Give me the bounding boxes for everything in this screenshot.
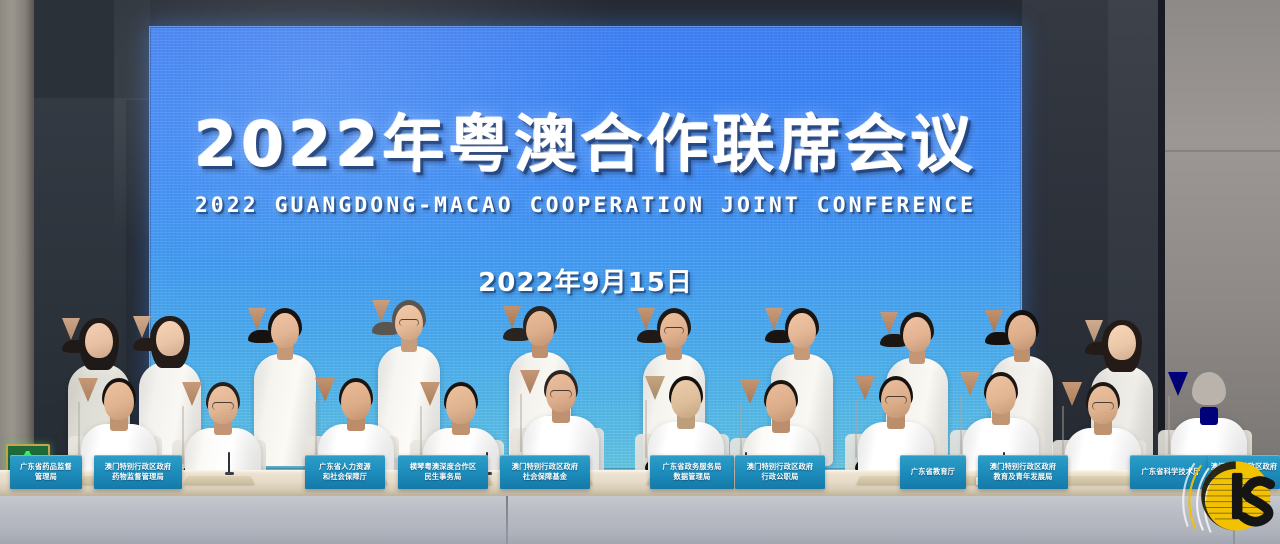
name-placard: 澳门特别行政区政府药物监督管理局	[94, 455, 182, 489]
shirt-collar	[1062, 382, 1082, 406]
shirt-placket	[740, 404, 742, 462]
shirt-placket	[78, 402, 80, 460]
shirt-collar	[740, 380, 760, 404]
shirt-placket	[645, 400, 647, 458]
shirt-collar	[765, 308, 783, 330]
shirt-collar	[315, 378, 335, 402]
delegate-glasses	[212, 402, 234, 410]
placard-line: 澳门特别行政区政府	[747, 462, 814, 472]
delegate-head	[1008, 315, 1036, 350]
placard-line: 广东省政务服务局	[662, 462, 721, 472]
placard-line: 药物监督管理局	[112, 472, 164, 482]
delegate-head	[446, 386, 476, 424]
placard-line: 广东省人力资源	[319, 462, 371, 472]
delegate-head	[903, 317, 931, 352]
name-placard: 广东省教育厅	[900, 455, 966, 489]
placard-line: 民生事务局	[425, 472, 462, 482]
delegate-head	[766, 384, 796, 422]
conference-date: 2022年9月15日	[149, 262, 1022, 299]
shirt-placket	[315, 402, 317, 460]
delegate-head	[526, 311, 554, 346]
delegate-glasses	[1092, 402, 1114, 410]
placard-line: 社会保障基金	[523, 472, 567, 482]
delegate-head	[1194, 376, 1224, 414]
microphone-base	[225, 472, 234, 475]
delegate-head	[271, 313, 299, 348]
delegate-head	[341, 382, 371, 420]
delegate-glasses	[399, 319, 419, 326]
shirt-collar	[855, 376, 875, 400]
gcs-logo	[1182, 446, 1278, 542]
name-placard: 澳门特别行政区政府行政公职局	[735, 455, 825, 489]
shirt-collar	[1168, 372, 1188, 396]
delegate-head	[671, 380, 701, 418]
placard-line: 和社会保障厅	[323, 472, 367, 482]
name-placard: 横琴粤澳深度合作区民生事务局	[398, 455, 488, 489]
conference-table-front-panel	[0, 496, 1280, 544]
shirt-collar	[420, 382, 440, 406]
table-panel-seam	[506, 496, 508, 544]
placard-line: 广东省教育厅	[911, 467, 955, 477]
name-placard: 澳门特别行政区政府社会保障基金	[500, 455, 590, 489]
placard-line: 澳门特别行政区政府	[105, 462, 172, 472]
name-placard: 广东省政务服务局数据管理局	[650, 455, 734, 489]
wall-panel-upper-left	[34, 0, 150, 98]
delegate-head	[85, 323, 113, 358]
delegate-glasses	[664, 327, 684, 334]
name-placard: 澳门特别行政区政府教育及青年发展局	[978, 455, 1068, 489]
shirt-collar	[182, 382, 202, 406]
wall-panel-right-warm-seam	[1165, 150, 1280, 152]
wall-panel-top-center	[150, 0, 1030, 26]
shirt-collar	[1085, 320, 1103, 342]
shirt-collar	[503, 306, 521, 328]
screen-title-block: 2022年粤澳合作联席会议 2022 GUANGDONG-MACAO COOPE…	[149, 110, 1022, 218]
shirt-placket	[520, 394, 522, 452]
shirt-collar	[880, 312, 898, 334]
wall-pillar-left	[0, 0, 34, 470]
placard-line: 管理局	[35, 472, 57, 482]
wall-seam-right	[1158, 0, 1165, 470]
microphone-stem	[228, 452, 230, 474]
placard-line: 行政公职局	[762, 472, 799, 482]
name-placard: 广东省药品监督管理局	[10, 455, 82, 489]
delegate-head	[788, 313, 816, 348]
shirt-collar	[78, 378, 98, 402]
conference-table-edge-highlight	[0, 470, 1280, 473]
shirt-placket	[182, 406, 184, 464]
conference-title-english: 2022 GUANGDONG-MACAO COOPERATION JOINT C…	[149, 193, 1022, 218]
shirt-collar	[520, 370, 540, 394]
shirt-placket	[960, 396, 962, 454]
conference-title-chinese: 2022年粤澳合作联席会议	[149, 110, 1022, 179]
placard-line: 广东省药品监督	[20, 462, 72, 472]
shirt-collar	[133, 316, 151, 338]
shirt-placket	[1168, 396, 1170, 454]
placard-line: 澳门特别行政区政府	[990, 462, 1057, 472]
placard-line: 数据管理局	[674, 472, 711, 482]
shirt-placket	[855, 400, 857, 458]
name-placard: 广东省人力资源和社会保障厅	[305, 455, 385, 489]
signing-folder	[184, 476, 254, 484]
placard-line: 教育及青年发展局	[993, 472, 1052, 482]
placard-line: 横琴粤澳深度合作区	[410, 462, 477, 472]
delegate-head	[986, 376, 1016, 414]
shirt-collar	[372, 300, 390, 322]
delegate-head	[156, 321, 184, 356]
screen-glow	[114, 0, 681, 301]
shirt-collar	[248, 308, 266, 330]
conference-room-scene: 2022年粤澳合作联席会议 2022 GUANGDONG-MACAO COOPE…	[0, 0, 1280, 544]
placard-line: 澳门特别行政区政府	[512, 462, 579, 472]
delegate-head	[1108, 325, 1136, 360]
shirt-collar	[637, 308, 655, 330]
shirt-collar	[960, 372, 980, 396]
shirt-collar	[985, 310, 1003, 332]
signing-folder	[1064, 476, 1134, 484]
shirt-collar	[62, 318, 80, 340]
shirt-collar	[645, 376, 665, 400]
delegate-head	[104, 382, 134, 420]
delegate-glasses	[550, 390, 572, 398]
delegate-glasses	[885, 396, 907, 404]
